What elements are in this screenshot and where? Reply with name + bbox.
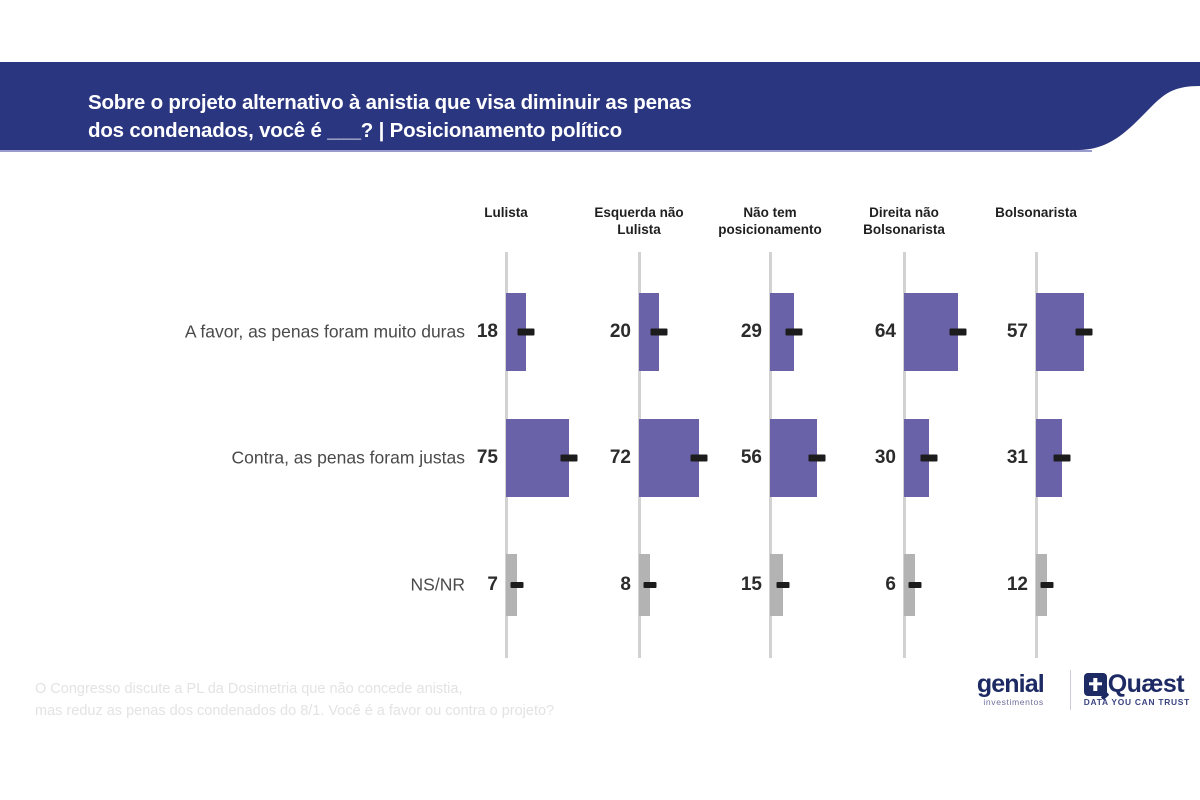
bar-value-label: 30 xyxy=(875,447,896,469)
column-header-4: Bolsonarista xyxy=(956,204,1116,221)
bar-end-marker xyxy=(786,329,803,336)
bar-value-label: 15 xyxy=(741,574,762,596)
bar-end-marker xyxy=(921,455,938,462)
quaest-logo-name: Quæst xyxy=(1108,672,1184,696)
bar-end-marker xyxy=(691,455,708,462)
bar-end-marker xyxy=(909,582,922,588)
bar-value-label: 57 xyxy=(1007,321,1028,343)
logo-group: genial investimentos Quæst DATA YOU CAN … xyxy=(977,670,1190,710)
genial-logo: genial investimentos xyxy=(977,672,1057,708)
bar-value-label: 20 xyxy=(610,321,631,343)
genial-logo-name: genial xyxy=(977,672,1044,696)
bar-end-marker xyxy=(949,329,966,336)
bar-value-label: 72 xyxy=(610,447,631,469)
bar-end-marker xyxy=(1054,455,1071,462)
bar-value-label: 75 xyxy=(477,447,498,469)
quaest-logo-tagline: DATA YOU CAN TRUST xyxy=(1084,697,1190,708)
quaest-logo: Quæst DATA YOU CAN TRUST xyxy=(1084,672,1190,708)
bar-value-label: 29 xyxy=(741,321,762,343)
poll-chart-page: Sobre o projeto alternativo à anistia qu… xyxy=(0,0,1200,800)
bar-value-label: 6 xyxy=(885,574,896,596)
genial-logo-tagline: investimentos xyxy=(977,697,1044,708)
bar-value-label: 7 xyxy=(487,574,498,596)
bar-end-marker xyxy=(651,329,668,336)
bar-end-marker xyxy=(511,582,524,588)
bar-value-label: 56 xyxy=(741,447,762,469)
row-label-1: Contra, as penas foram justas xyxy=(232,448,465,469)
bar-value-label: 18 xyxy=(477,321,498,343)
row-label-2: NS/NR xyxy=(411,575,465,596)
bar-end-marker xyxy=(809,455,826,462)
quaest-logo-row: Quæst xyxy=(1084,672,1190,696)
bar-value-label: 64 xyxy=(875,321,896,343)
footnote: O Congresso discute a PL da Dosimetria q… xyxy=(35,678,554,722)
column-headers: LulistaEsquerda não LulistaNão tem posic… xyxy=(0,204,1200,250)
bar-end-marker xyxy=(518,329,535,336)
row-label-0: A favor, as penas foram muito duras xyxy=(185,322,465,343)
bar-value-label: 12 xyxy=(1007,574,1028,596)
bar-end-marker xyxy=(776,582,789,588)
bar-end-marker xyxy=(1041,582,1054,588)
bar-value-label: 8 xyxy=(620,574,631,596)
bar-end-marker xyxy=(644,582,657,588)
bar-end-marker xyxy=(1075,329,1092,336)
chart-area: LulistaEsquerda não LulistaNão tem posic… xyxy=(0,152,1200,662)
logo-divider xyxy=(1070,670,1071,710)
page-title: Sobre o projeto alternativo à anistia qu… xyxy=(88,89,908,145)
quaest-plus-mark-icon xyxy=(1084,673,1107,696)
bar-value-label: 31 xyxy=(1007,447,1028,469)
bar-end-marker xyxy=(561,455,578,462)
